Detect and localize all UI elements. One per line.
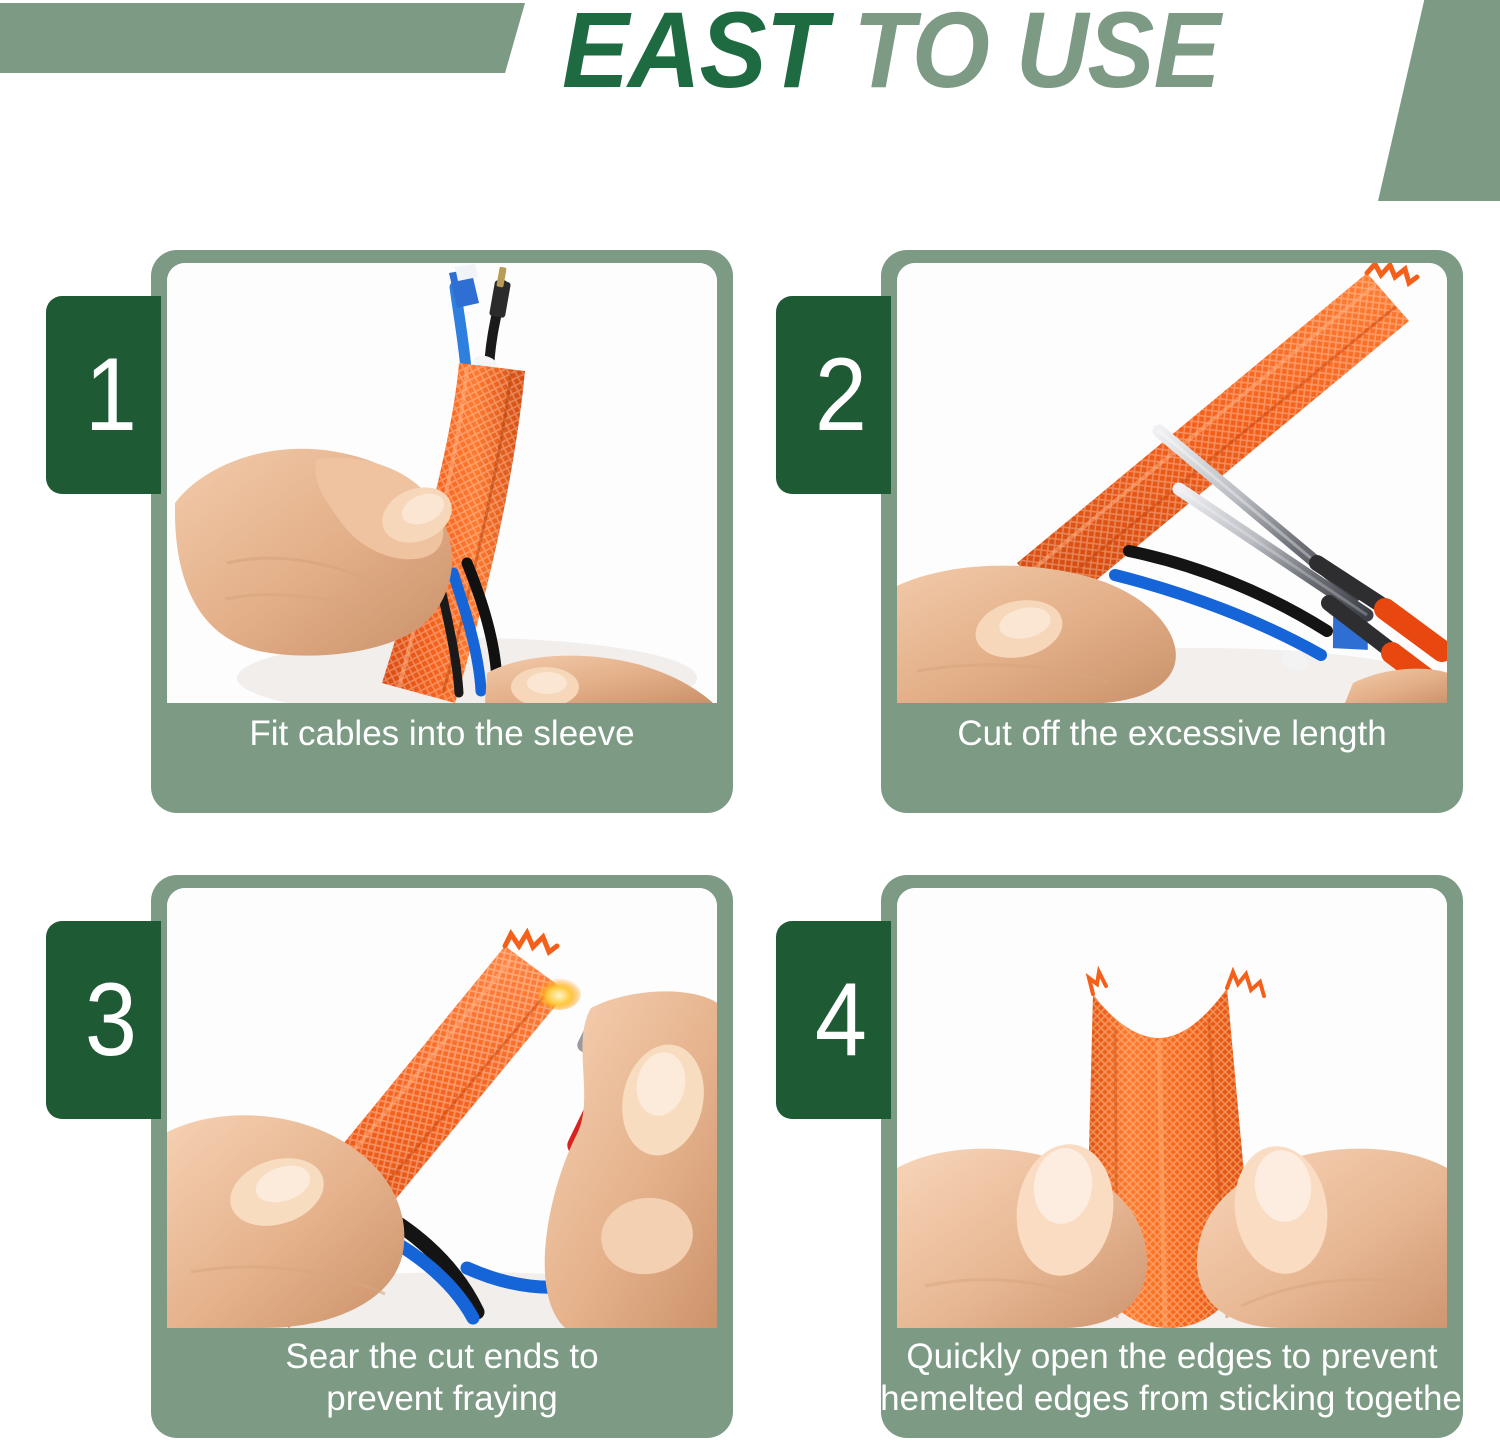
step-number-1: 1 xyxy=(84,343,136,447)
step-caption-line: Fit cables into the sleeve xyxy=(249,713,634,755)
step-photo-1 xyxy=(167,263,717,703)
page-title: EAST TO USE xyxy=(562,0,1362,107)
step-caption-2: Cut off the excessive length xyxy=(889,708,1455,808)
step-number-3: 3 xyxy=(84,968,136,1072)
step-card-4: 4 xyxy=(776,865,1466,1440)
step-number-badge-2: 2 xyxy=(776,296,891,494)
step-number-badge-4: 4 xyxy=(776,921,891,1119)
step-card-body-4: Quickly open the edges to prevent themel… xyxy=(881,875,1463,1438)
header-left-bar xyxy=(0,3,525,73)
step-number-badge-3: 3 xyxy=(46,921,161,1119)
steps-grid: 1 xyxy=(0,240,1500,1446)
step-photo-4 xyxy=(897,888,1447,1328)
header-banner: EAST TO USE xyxy=(0,0,1500,215)
step-caption-4: Quickly open the edges to prevent themel… xyxy=(889,1333,1455,1433)
step-card-body-2: Cut off the excessive length xyxy=(881,250,1463,813)
step-card-body-1: Fit cables into the sleeve xyxy=(151,250,733,813)
step-caption-line: Cut off the excessive length xyxy=(957,713,1386,755)
step-card-1: 1 xyxy=(46,240,736,815)
step-caption-line: themelted edges from sticking together xyxy=(870,1378,1473,1420)
step-caption-line: Quickly open the edges to prevent xyxy=(906,1336,1437,1378)
step-caption-3: Sear the cut ends to prevent fraying xyxy=(159,1333,725,1433)
step-number-2: 2 xyxy=(814,343,866,447)
step-card-3: 3 xyxy=(46,865,736,1440)
page-title-strong: EAST xyxy=(562,0,826,110)
step-caption-1: Fit cables into the sleeve xyxy=(159,708,725,808)
step-number-badge-1: 1 xyxy=(46,296,161,494)
step-photo-2 xyxy=(897,263,1447,703)
header-right-bar xyxy=(1378,0,1500,201)
step-number-4: 4 xyxy=(814,968,866,1072)
step-caption-line: prevent fraying xyxy=(326,1378,558,1420)
step-caption-line: Sear the cut ends to xyxy=(285,1336,598,1378)
page-title-soft: TO USE xyxy=(853,0,1220,110)
step-card-2: 2 xyxy=(776,240,1466,815)
step-photo-3 xyxy=(167,888,717,1328)
step-card-body-3: Sear the cut ends to prevent fraying xyxy=(151,875,733,1438)
